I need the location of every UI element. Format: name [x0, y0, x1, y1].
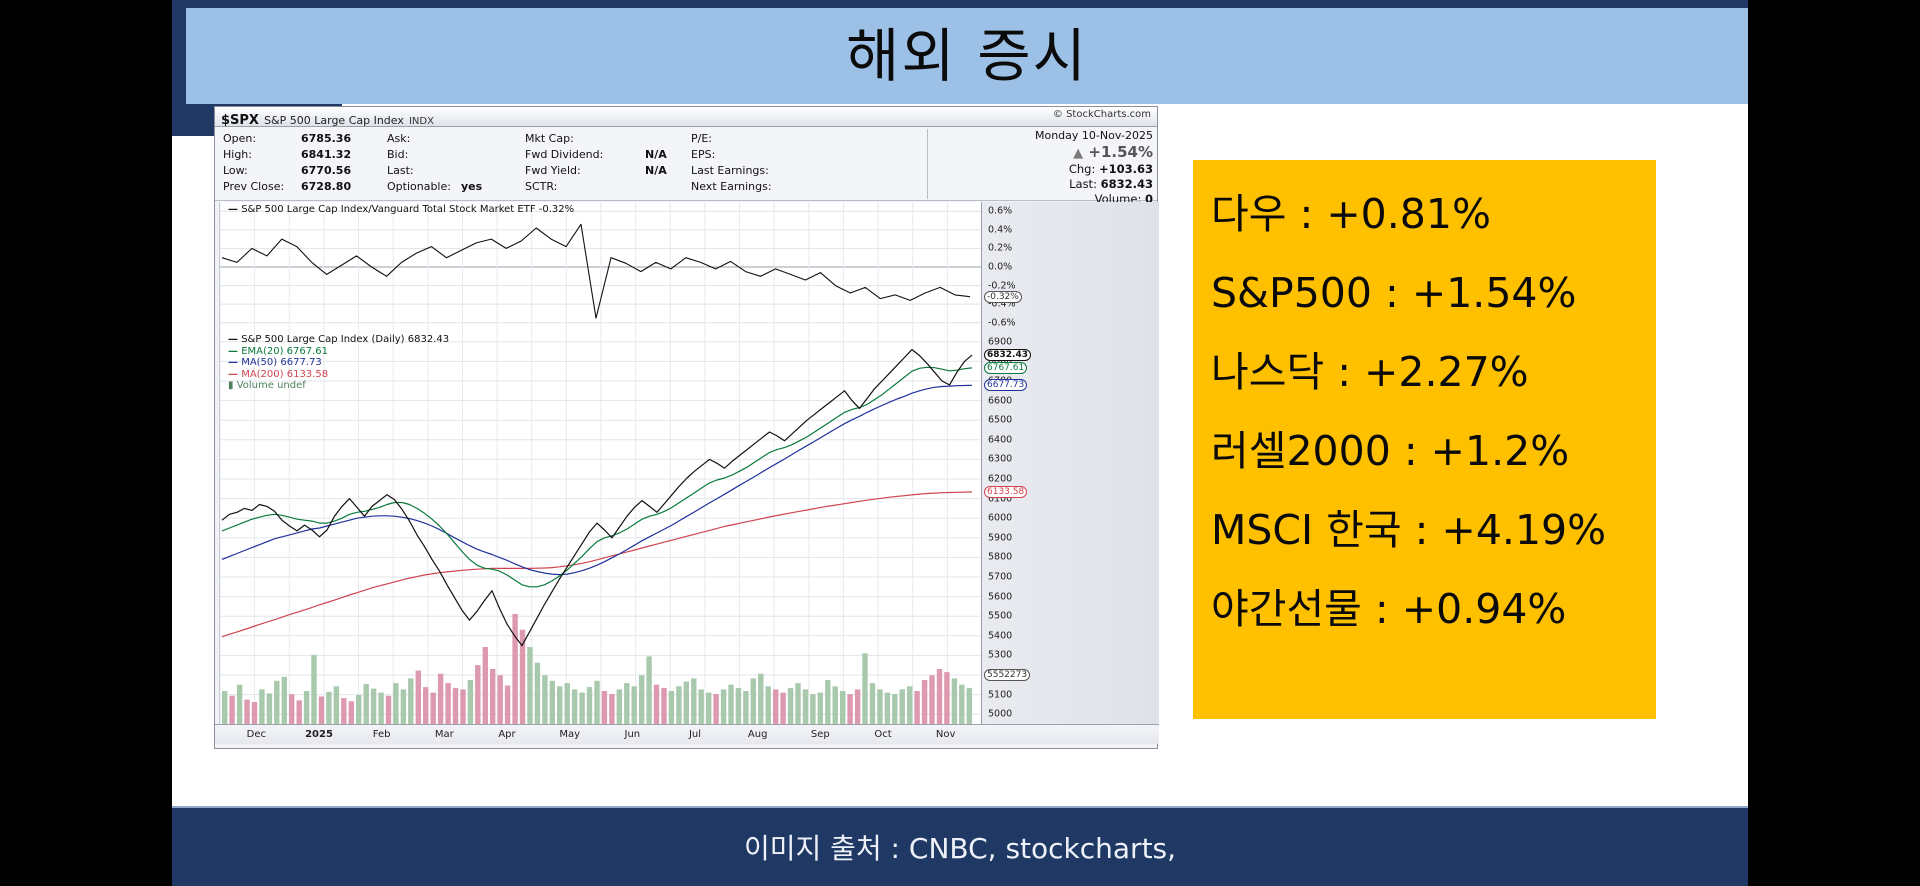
quote-label-open: Open: [223, 132, 301, 145]
footer-bar: 이미지 출처 : CNBC, stockcharts, [172, 808, 1748, 886]
chart-exchange: INDX [409, 116, 434, 127]
price-legend-item: ▮ Volume undef [228, 380, 449, 392]
price-axis-tick: 6900 [988, 336, 1012, 347]
date-x-axis: Dec2025FebMarAprMayJunJulAugSepOctNov [215, 724, 1159, 744]
stockcharts-chart-image: $SPX S&P 500 Large Cap Index INDX © Stoc… [214, 106, 1158, 749]
quote-label-prev-close: Prev Close: [223, 180, 301, 193]
ratio-axis-tick: 0.6% [988, 206, 1012, 217]
ratio-y-axis: 0.6%0.4%0.2%0.0%-0.2%-0.4%-0.6%-0.32% [981, 202, 1159, 332]
line-swatch-icon: — [228, 369, 238, 380]
price-axis-tick: 5500 [988, 611, 1012, 622]
quote-value-next-earnings [789, 180, 849, 193]
quote-date: Monday 10-Nov-2025 [934, 129, 1153, 142]
line-swatch-icon: — [228, 346, 238, 357]
volume-swatch-icon: ▮ [228, 380, 234, 391]
price-axis-tick: 6600 [988, 395, 1012, 406]
quote-last-value: 6832.43 [1101, 177, 1153, 191]
price-legend-label: S&P 500 Large Cap Index (Daily) 6832.43 [241, 334, 449, 345]
quote-label-last-earnings: Last Earnings: [691, 164, 789, 177]
price-axis-tick: 5400 [988, 630, 1012, 641]
ratio-plot-area: — S&P 500 Large Cap Index/Vanguard Total… [219, 202, 981, 332]
triangle-up-icon: ▲ [1073, 146, 1083, 161]
quote-label-ask: Ask: [387, 132, 461, 145]
price-axis-tick: 5700 [988, 572, 1012, 583]
price-axis-tick: 5800 [988, 552, 1012, 563]
ratio-legend-label: S&P 500 Large Cap Index/Vanguard Total S… [241, 204, 574, 215]
price-axis-tick: 5900 [988, 532, 1012, 543]
date-axis-tick: Sep [811, 729, 830, 740]
index-summary-row: 야간선물 : +0.94% [1211, 589, 1656, 630]
price-axis-value-tag: 6677.73 [984, 379, 1027, 391]
price-legend-label: MA(50) 6677.73 [241, 357, 322, 368]
price-axis-tick: 5000 [988, 709, 1012, 720]
quote-value-pe [789, 132, 849, 145]
letterbox-right [1748, 0, 1920, 886]
quote-label-eps: EPS: [691, 148, 789, 161]
quote-chg-row: Chg: +103.63 [934, 162, 1153, 176]
price-legend-item: — EMA(20) 6767.61 [228, 346, 449, 358]
quote-percent-change-value: +1.54% [1088, 143, 1153, 161]
date-axis-tick: 2025 [305, 729, 333, 740]
date-axis-tick: Oct [874, 729, 891, 740]
price-axis-tick: 6500 [988, 415, 1012, 426]
quote-value-open: 6785.36 [301, 132, 387, 145]
ratio-axis-tick: 0.4% [988, 224, 1012, 235]
index-summary-row: S&P500 : +1.54% [1211, 273, 1656, 314]
image-source-note: 이미지 출처 : CNBC, stockcharts, [744, 827, 1176, 867]
quote-label-pe: P/E: [691, 132, 789, 145]
date-axis-tick: Dec [247, 729, 266, 740]
page-title: 해외 증시 [846, 27, 1088, 85]
index-summary-row: 다우 : +0.81% [1211, 194, 1656, 235]
index-summary-box: 다우 : +0.81%S&P500 : +1.54%나스닥 : +2.27%러셀… [1193, 160, 1656, 719]
quote-label-sctr: SCTR: [525, 180, 645, 193]
ratio-axis-tick: -0.2% [988, 280, 1016, 291]
ratio-legend: — S&P 500 Large Cap Index/Vanguard Total… [228, 204, 574, 216]
price-legend-label: EMA(20) 6767.61 [241, 346, 328, 357]
ratio-axis-tick: 0.0% [988, 262, 1012, 273]
quote-label-fwd-yield: Fwd Yield: [525, 164, 645, 177]
price-legend-label: Volume undef [237, 380, 306, 391]
screenshot-stage: 해외 증시 $SPX S&P 500 Large Cap Index INDX … [0, 0, 1920, 886]
letterbox-left [0, 0, 172, 886]
price-axis-tick: 6300 [988, 454, 1012, 465]
price-y-axis: 6900680067006600650064006300620061006000… [981, 332, 1159, 724]
quote-grid: Open: 6785.36 Ask: Mkt Cap: P/E: High: 6… [223, 132, 923, 193]
quote-panel: Open: 6785.36 Ask: Mkt Cap: P/E: High: 6… [215, 127, 1157, 201]
quote-label-high: High: [223, 148, 301, 161]
ratio-current-value-tag: -0.32% [984, 291, 1022, 303]
ratio-line-svg [220, 202, 982, 332]
quote-value-mkt-cap [645, 132, 691, 145]
price-axis-tick: 6000 [988, 513, 1012, 524]
quote-value-fwd-yield: N/A [645, 164, 691, 177]
price-legend-item: — MA(200) 6133.58 [228, 369, 449, 381]
price-axis-value-tag: 6767.61 [984, 362, 1027, 374]
price-axis-value-tag: 6133.58 [984, 486, 1027, 498]
quote-chg-value: +103.63 [1099, 162, 1153, 176]
price-legend: — S&P 500 Large Cap Index (Daily) 6832.4… [228, 334, 449, 392]
slide-canvas: 해외 증시 $SPX S&P 500 Large Cap Index INDX … [172, 0, 1748, 886]
quote-label-last: Last: [387, 164, 461, 177]
quote-last-label: Last: [1069, 177, 1097, 191]
date-axis-tick: Apr [498, 729, 515, 740]
date-axis-tick: Nov [936, 729, 956, 740]
line-swatch-icon: — [228, 334, 238, 345]
quote-value-fwd-dividend: N/A [645, 148, 691, 161]
quote-value-bid [461, 148, 525, 161]
date-axis-tick: May [559, 729, 580, 740]
quote-value-last-earnings [789, 164, 849, 177]
chart-titlebar: $SPX S&P 500 Large Cap Index INDX © Stoc… [215, 107, 1157, 127]
quote-value-low: 6770.56 [301, 164, 387, 177]
index-summary-row: MSCI 한국 : +4.19% [1211, 510, 1656, 551]
quote-percent-change: ▲ +1.54% [934, 143, 1153, 161]
quote-label-next-earnings: Next Earnings: [691, 180, 789, 193]
quote-value-last [461, 164, 525, 177]
quote-value-high: 6841.32 [301, 148, 387, 161]
ratio-legend-item: — S&P 500 Large Cap Index/Vanguard Total… [228, 204, 574, 216]
chart-index-name: S&P 500 Large Cap Index [264, 114, 404, 127]
price-plot-area: — S&P 500 Large Cap Index (Daily) 6832.4… [219, 332, 981, 724]
date-axis-tick: Jun [625, 729, 641, 740]
price-pane: — S&P 500 Large Cap Index (Daily) 6832.4… [215, 332, 1159, 724]
price-axis-value-tag: 5552273 [984, 669, 1030, 681]
price-legend-item: — S&P 500 Large Cap Index (Daily) 6832.4… [228, 334, 449, 346]
quote-label-bid: Bid: [387, 148, 461, 161]
quote-value-optionable: yes [461, 180, 525, 193]
ratio-axis-tick: 0.2% [988, 243, 1012, 254]
quote-label-low: Low: [223, 164, 301, 177]
quote-label-optionable: Optionable: [387, 180, 461, 193]
date-axis-tick: Mar [435, 729, 454, 740]
date-axis-tick: Jul [689, 729, 701, 740]
quote-value-eps [789, 148, 849, 161]
title-banner: 해외 증시 [186, 8, 1748, 104]
date-axis-tick: Feb [373, 729, 391, 740]
quote-summary: Monday 10-Nov-2025 ▲ +1.54% Chg: +103.63… [927, 129, 1153, 199]
ratio-axis-tick: -0.6% [988, 317, 1016, 328]
price-legend-item: — MA(50) 6677.73 [228, 357, 449, 369]
quote-value-prev-close: 6728.80 [301, 180, 387, 193]
price-legend-label: MA(200) 6133.58 [241, 369, 328, 380]
price-axis-value-tag: 6832.43 [984, 349, 1031, 361]
line-swatch-icon: — [228, 357, 238, 368]
quote-label-mkt-cap: Mkt Cap: [525, 132, 645, 145]
price-axis-tick: 6400 [988, 434, 1012, 445]
quote-label-fwd-dividend: Fwd Dividend: [525, 148, 645, 161]
quote-chg-label: Chg: [1069, 162, 1096, 176]
quote-value-sctr [645, 180, 691, 193]
quote-last-row: Last: 6832.43 [934, 177, 1153, 191]
chart-symbol: $SPX [221, 113, 259, 128]
quote-value-ask [461, 132, 525, 145]
price-axis-tick: 5300 [988, 650, 1012, 661]
index-summary-row: 나스닥 : +2.27% [1211, 352, 1656, 393]
price-axis-tick: 6200 [988, 474, 1012, 485]
ratio-indicator-pane: — S&P 500 Large Cap Index/Vanguard Total… [215, 202, 1159, 332]
date-axis-tick: Aug [748, 729, 768, 740]
line-swatch-icon: — [228, 204, 238, 215]
price-axis-tick: 5100 [988, 689, 1012, 700]
stockcharts-brand: © StockCharts.com [1053, 109, 1151, 120]
index-summary-row: 러셀2000 : +1.2% [1211, 431, 1656, 472]
price-axis-tick: 5600 [988, 591, 1012, 602]
